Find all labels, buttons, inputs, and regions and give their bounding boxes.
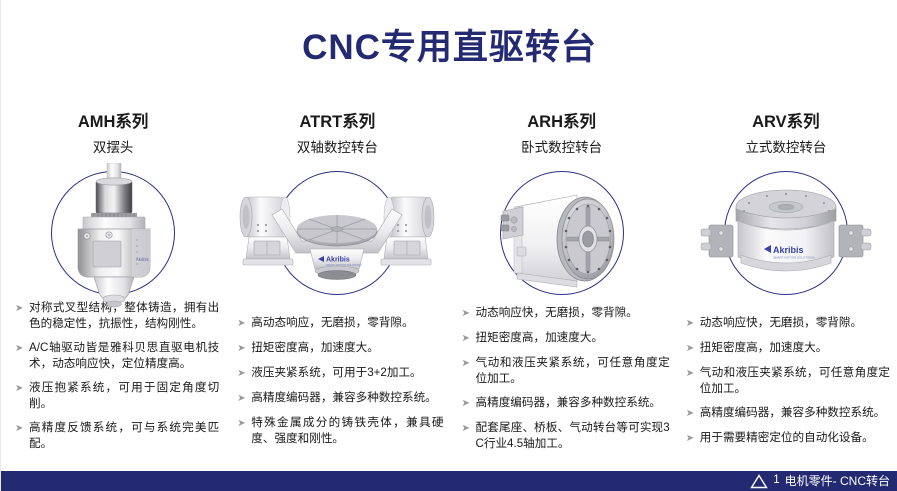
list-item: ➤ 扭矩密度高，加速度大。 xyxy=(462,330,670,347)
feature-text: 动态响应快，无磨损，零背隙。 xyxy=(700,315,890,331)
product-column-arv: ARV系列 立式数控转台 xyxy=(674,112,897,460)
bullet-arrow-icon: ➤ xyxy=(237,365,251,382)
bullet-arrow-icon: ➤ xyxy=(237,340,251,357)
feature-text: 液压抱紧系统，可用于固定角度切削。 xyxy=(29,380,219,412)
product-columns: AMH系列 双摆头 xyxy=(1,112,897,460)
list-item: ➤ 气动和液压夹紧系统，可任意角度定位加工。 xyxy=(462,355,670,387)
feature-text: 高精度编码器，兼容多种数控系统。 xyxy=(251,390,443,406)
list-item: ➤ 高精度反馈系统，可与系统完美匹配。 xyxy=(15,420,219,452)
feature-text: 用于需要精密定位的自动化设备。 xyxy=(700,430,890,446)
slide-canvas: CNC专用直驱转台 AMH系列 双摆头 xyxy=(0,0,897,491)
column-header-atrt: ATRT系列 双轴数控转台 xyxy=(225,112,449,157)
product-column-arh: ARH系列 卧式数控转台 xyxy=(450,112,674,460)
list-item: ➤ 高精度编码器，兼容多种数控系统。 xyxy=(462,395,670,412)
svg-text:Akribis: Akribis xyxy=(136,257,149,262)
bullet-arrow-icon: ➤ xyxy=(237,415,251,432)
bullet-arrow-icon: ➤ xyxy=(15,420,29,437)
column-header-arv: ARV系列 立式数控转台 xyxy=(674,112,897,157)
product-column-amh: AMH系列 双摆头 xyxy=(1,112,225,460)
bullet-arrow-icon: ➤ xyxy=(15,340,29,357)
list-item: ➤ 高动态响应，无磨损，零背隙。 xyxy=(237,315,443,332)
product-image-arv: Akribis SMART MOTION SOLUTIONS xyxy=(674,163,897,309)
feature-text: 液压夹紧系统，可用于3+2加工。 xyxy=(251,365,443,381)
feature-text: 高精度编码器，兼容多种数控系统。 xyxy=(476,395,670,411)
feature-text: 特殊金属成分的铸铁壳体，兼具硬度、强度和刚性。 xyxy=(251,415,443,447)
column-subtitle: 卧式数控转台 xyxy=(450,139,674,157)
column-title: ARH系列 xyxy=(450,112,674,133)
column-title: AMH系列 xyxy=(1,112,225,133)
list-item: ➤ 气动和液压夹紧系统，可任意角度定位加工。 xyxy=(686,365,890,397)
bullet-arrow-icon: ➤ xyxy=(462,395,476,412)
feature-text: A/C轴驱动皆是雅科贝思直驱电机技术，动态响应快，定位精度高。 xyxy=(29,340,219,372)
product-image-atrt: Akribis SMART MOTION SOLUTIONS xyxy=(225,163,449,309)
bullet-arrow-icon: ➤ xyxy=(15,380,29,397)
column-subtitle: 双轴数控转台 xyxy=(225,139,449,157)
list-item: ➤ 高精度编码器，兼容多种数控系统。 xyxy=(686,405,890,422)
feature-list-atrt: ➤ 高动态响应，无磨损，零背隙。 ➤ 扭矩密度高，加速度大。 ➤ 液压夹紧系统，… xyxy=(225,315,449,455)
arh-horizontal-rotary-table-icon xyxy=(457,163,667,309)
feature-list-arh: ➤ 动态响应快，无磨损，零背隙。 ➤ 扭矩密度高，加速度大。 ➤ 气动和液压夹紧… xyxy=(450,305,674,460)
column-subtitle: 立式数控转台 xyxy=(674,139,897,157)
feature-text: 配套尾座、桥板、气动转台等可实现3C行业4.5轴加工。 xyxy=(476,420,670,452)
product-image-arh xyxy=(450,163,674,299)
footer-label: 电机零件- CNC转台 xyxy=(785,475,890,487)
bullet-arrow-icon: ➤ xyxy=(462,355,476,372)
bullet-arrow-icon: ➤ xyxy=(462,330,476,347)
product-column-atrt: ATRT系列 双轴数控转台 xyxy=(225,112,449,460)
list-item: ➤ 动态响应快，无磨损，零背隙。 xyxy=(686,315,890,332)
feature-text: 扭矩密度高，加速度大。 xyxy=(251,340,443,356)
bullet-arrow-icon: ➤ xyxy=(686,405,700,422)
arv-vertical-rotary-table-icon: Akribis SMART MOTION SOLUTIONS xyxy=(681,163,891,309)
feature-list-amh: ➤ 对称式叉型结构，整体铸造，拥有出色的稳定性，抗振性，结构刚性。 ➤ A/C轴… xyxy=(1,300,225,460)
list-item: ➤ 用于需要精密定位的自动化设备。 xyxy=(686,430,890,447)
atrt-two-axis-trunnion-table-icon: Akribis SMART MOTION SOLUTIONS xyxy=(232,163,442,309)
bullet-arrow-icon: ➤ xyxy=(462,420,476,437)
column-header-amh: AMH系列 双摆头 xyxy=(1,112,225,157)
svg-text:SMART MOTION SOLUTIONS: SMART MOTION SOLUTIONS xyxy=(773,255,814,259)
svg-text:Akribis: Akribis xyxy=(773,245,804,255)
footer-page-number: 1 xyxy=(773,475,779,487)
feature-text: 扭矩密度高，加速度大。 xyxy=(700,340,890,356)
list-item: ➤ 扭矩密度高，加速度大。 xyxy=(686,340,890,357)
svg-text:Akribis: Akribis xyxy=(326,256,350,263)
list-item: ➤ 液压夹紧系统，可用于3+2加工。 xyxy=(237,365,443,382)
feature-text: 扭矩密度高，加速度大。 xyxy=(476,330,670,346)
column-subtitle: 双摆头 xyxy=(1,139,225,157)
bullet-arrow-icon: ➤ xyxy=(237,315,251,332)
footer-content: 1 电机零件- CNC转台 xyxy=(750,474,897,489)
list-item: ➤ 扭矩密度高，加速度大。 xyxy=(237,340,443,357)
feature-list-arv: ➤ 动态响应快，无磨损，零背隙。 ➤ 扭矩密度高，加速度大。 ➤ 气动和液压夹紧… xyxy=(674,315,897,455)
list-item: ➤ 特殊金属成分的铸铁壳体，兼具硬度、强度和刚性。 xyxy=(237,415,443,447)
list-item: ➤ 配套尾座、桥板、气动转台等可实现3C行业4.5轴加工。 xyxy=(462,420,670,452)
list-item: ➤ A/C轴驱动皆是雅科贝思直驱电机技术，动态响应快，定位精度高。 xyxy=(15,340,219,372)
amh-swivel-head-icon: Akribis xyxy=(8,163,218,309)
column-header-arh: ARH系列 卧式数控转台 xyxy=(450,112,674,157)
triangle-logo-icon xyxy=(750,474,768,489)
list-item: ➤ 高精度编码器，兼容多种数控系统。 xyxy=(237,390,443,407)
footer-bar: 1 电机零件- CNC转台 xyxy=(1,471,897,491)
feature-text: 高精度反馈系统，可与系统完美匹配。 xyxy=(29,420,219,452)
bullet-arrow-icon: ➤ xyxy=(686,365,700,382)
bullet-arrow-icon: ➤ xyxy=(237,390,251,407)
product-image-amh: Akribis xyxy=(1,163,225,294)
bullet-arrow-icon: ➤ xyxy=(686,430,700,447)
column-title: ATRT系列 xyxy=(225,112,449,133)
feature-text: 气动和液压夹紧系统，可任意角度定位加工。 xyxy=(476,355,670,387)
page-title: CNC专用直驱转台 xyxy=(1,28,897,68)
column-title: ARV系列 xyxy=(674,112,897,133)
bullet-arrow-icon: ➤ xyxy=(686,340,700,357)
feature-text: 高动态响应，无磨损，零背隙。 xyxy=(251,315,443,331)
bullet-arrow-icon: ➤ xyxy=(686,315,700,332)
feature-text: 气动和液压夹紧系统，可任意角度定位加工。 xyxy=(700,365,890,397)
feature-text: 高精度编码器，兼容多种数控系统。 xyxy=(700,405,890,421)
list-item: ➤ 液压抱紧系统，可用于固定角度切削。 xyxy=(15,380,219,412)
